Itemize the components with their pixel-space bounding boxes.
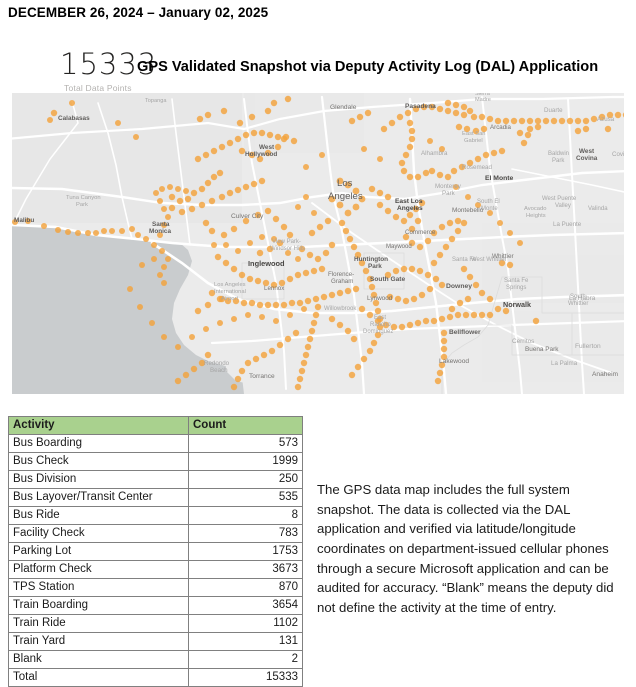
table-row[interactable]: Bus Division250 [9, 471, 303, 489]
kpi-value: 15333 [60, 50, 138, 79]
map-place-label: Duarte [544, 107, 563, 114]
map-place-label: Gabriel [464, 138, 483, 144]
table-header-row: Activity Count [9, 417, 303, 435]
map-place-label: Angeles [397, 205, 423, 212]
cell-count: 783 [189, 525, 303, 543]
column-header-count: Count [189, 417, 303, 435]
map-place-label: Huntington [354, 256, 388, 263]
map-place-label: Norwalk [503, 300, 531, 309]
map-place-label: Springs [506, 285, 526, 291]
map-place-label: Tuna Canyon [66, 195, 101, 201]
map-place-label: Los [337, 178, 353, 189]
table-row[interactable]: Bus Ride8 [9, 507, 303, 525]
activity-count-table[interactable]: Activity Count Bus Boarding573Bus Check1… [8, 416, 303, 687]
table-row[interactable]: TPS Station870 [9, 579, 303, 597]
cell-activity: Parking Lot [9, 543, 189, 561]
cell-count: 1753 [189, 543, 303, 561]
cell-count: 535 [189, 489, 303, 507]
map-place-label: Alhambra [421, 150, 448, 157]
map-place-label: West [579, 148, 595, 155]
cell-count: 250 [189, 471, 303, 489]
map-place-label: Heights [526, 213, 546, 219]
column-header-activity: Activity [9, 417, 189, 435]
map-place-label: El Monte [485, 175, 514, 182]
table-row[interactable]: Bus Layover/Transit Center535 [9, 489, 303, 507]
map-place-label: Airport [221, 296, 238, 302]
map-place-label: Monte [481, 206, 498, 212]
map-place-label: Rosemead [462, 164, 492, 171]
cell-count: 8 [189, 507, 303, 525]
table-row[interactable]: Blank2 [9, 651, 303, 669]
map-place-label: Angeles [328, 191, 363, 202]
cell-activity: Bus Boarding [9, 435, 189, 453]
map-place-label: Windsor Hills [270, 246, 305, 252]
map-place-label: Downey [446, 283, 472, 290]
cell-activity: Platform Check [9, 561, 189, 579]
table-row[interactable]: Train Yard131 [9, 633, 303, 651]
map-place-label: International [214, 289, 246, 295]
cell-count: 573 [189, 435, 303, 453]
map-place-label: Florence- [328, 271, 354, 278]
map-place-label: Park [552, 158, 565, 164]
map-place-label: Redondo [204, 360, 230, 367]
map-place-label: Baldwin [548, 151, 569, 157]
cell-activity: Train Ride [9, 615, 189, 633]
map-place-label: Lynwood [367, 295, 393, 302]
map-place-label: Dominguez [363, 329, 393, 335]
map-place-label: Santa [152, 221, 170, 228]
map-place-label: Avocado [524, 206, 546, 212]
map-place-label: Rancho [370, 322, 391, 328]
cell-activity: Bus Layover/Transit Center [9, 489, 189, 507]
map-place-label: Lennox [264, 285, 285, 292]
table-row[interactable]: Train Boarding3654 [9, 597, 303, 615]
map-canvas[interactable]: CalabasasMalibuTopangaTuna CanyonParkSan… [12, 93, 624, 394]
map-place-label: Los Angeles [214, 282, 246, 288]
map-place-label: Park [442, 190, 456, 197]
map-place-label: West Puente [542, 196, 577, 202]
map-place-label: Montebello [452, 207, 484, 214]
map-place-label: Santa Fe [504, 278, 529, 284]
map-place-label: West [259, 144, 275, 151]
map-place-label: Commerce [405, 229, 436, 236]
table-row[interactable]: Train Ride1102 [9, 615, 303, 633]
map-place-label: Valley [555, 203, 571, 209]
map-place-label: Lakewood [439, 358, 469, 365]
explanatory-note: The GPS data map includes the full syste… [317, 480, 629, 617]
map-place-label: South El [477, 199, 500, 205]
map-place-label: La Habra [569, 295, 596, 302]
cell-activity: Train Yard [9, 633, 189, 651]
map-place-label: Bellflower [449, 329, 481, 336]
map-place-label: Monterey [435, 183, 462, 190]
map-place-label: Anaheim [592, 371, 619, 378]
gps-map[interactable]: CalabasasMalibuTopangaTuna CanyonParkSan… [12, 93, 624, 394]
map-place-label: Maywood [386, 244, 412, 250]
report-date-range: DECEMBER 26, 2024 – January 02, 2025 [8, 5, 268, 20]
map-place-label: Torrance [249, 373, 275, 380]
kpi-label: Total Data Points [60, 83, 138, 93]
map-place-label: Culver City [231, 213, 264, 220]
cell-activity: Bus Check [9, 453, 189, 471]
map-place-label: Park [368, 263, 382, 270]
cell-total-label: Total [9, 669, 189, 687]
map-place-label: Cerritos [512, 338, 534, 345]
map-place-label: Covina [576, 155, 598, 162]
cell-count: 131 [189, 633, 303, 651]
map-place-label: Azusa [597, 116, 615, 123]
table-row[interactable]: Parking Lot1753 [9, 543, 303, 561]
table-total-row: Total15333 [9, 669, 303, 687]
table-row[interactable]: Facility Check783 [9, 525, 303, 543]
map-place-label: La Palma [551, 360, 578, 367]
map-place-label: Santa Fe [452, 257, 477, 263]
cell-count: 1102 [189, 615, 303, 633]
map-place-label: Hollywood [245, 151, 277, 158]
table-row[interactable]: Bus Check1999 [9, 453, 303, 471]
map-place-label: Inglewood [248, 259, 285, 268]
map-place-label: Monica [149, 228, 171, 235]
map-place-label: Beach [210, 367, 228, 374]
map-place-label: Madre [475, 97, 491, 103]
map-place-label: Calabasas [58, 115, 90, 122]
cell-activity: Facility Check [9, 525, 189, 543]
cell-activity: TPS Station [9, 579, 189, 597]
cell-count: 3673 [189, 561, 303, 579]
cell-activity: Bus Ride [9, 507, 189, 525]
map-place-label: Covina [612, 151, 624, 158]
cell-total-count: 15333 [189, 669, 303, 687]
cell-count: 3654 [189, 597, 303, 615]
cell-activity: Bus Division [9, 471, 189, 489]
map-place-label: Valinda [588, 206, 608, 212]
map-place-label: Park [76, 202, 88, 208]
map-place-label: South Gate [370, 276, 406, 283]
cell-activity: Train Boarding [9, 597, 189, 615]
map-place-label: Buena Park [525, 346, 559, 353]
cell-count: 1999 [189, 453, 303, 471]
map-place-label: Fullerton [575, 343, 601, 350]
chart-title: GPS Validated Snapshot via Deputy Activi… [137, 59, 598, 75]
map-place-label: La Puente [553, 221, 582, 228]
map-place-label: Malibu [14, 217, 34, 224]
map-place-label: East San [462, 131, 486, 137]
table-row[interactable]: Platform Check3673 [9, 561, 303, 579]
cell-count: 2 [189, 651, 303, 669]
table-row[interactable]: Bus Boarding573 [9, 435, 303, 453]
map-place-label: Graham [331, 278, 353, 285]
map-place-label: View Park- [272, 239, 301, 245]
cell-activity: Blank [9, 651, 189, 669]
cell-count: 870 [189, 579, 303, 597]
map-place-label: Willowbrook [324, 306, 357, 312]
map-place-label: Arcadia [490, 124, 512, 131]
map-place-label: East Los [395, 198, 423, 205]
map-place-label: Topanga [145, 98, 167, 104]
map-place-label: Glendale [330, 104, 357, 111]
map-place-label: Pasadena [405, 103, 436, 110]
kpi-card: 15333 Total Data Points [60, 50, 138, 93]
map-place-label: East [374, 315, 386, 321]
